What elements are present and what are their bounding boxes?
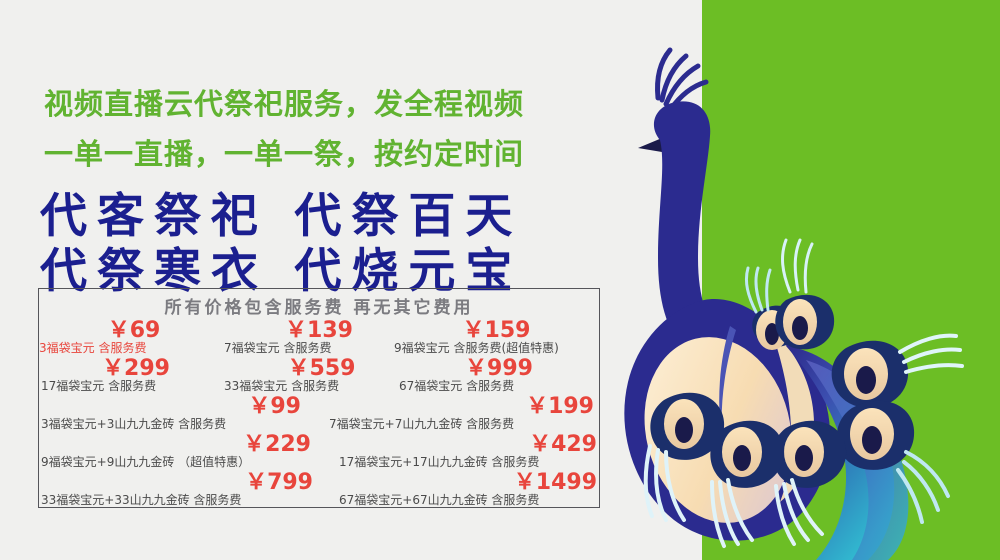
price-table: 所有价格包含服务费 再无其它费用 ￥693福袋宝元 含服务费￥1397福袋宝元 … bbox=[38, 288, 600, 508]
price-description: 17福袋宝元 含服务费 bbox=[41, 379, 231, 394]
price-amount: ￥99 bbox=[41, 397, 301, 417]
price-amount: ￥159 bbox=[394, 321, 599, 341]
price-item[interactable]: ￥1997福袋宝元+7山九九金砖 含服务费 bbox=[329, 397, 594, 432]
price-description: 3福袋宝元 含服务费 bbox=[39, 341, 229, 356]
price-amount: ￥199 bbox=[329, 397, 594, 417]
price-item[interactable]: ￥1599福袋宝元 含服务费(超值特惠) bbox=[394, 321, 599, 356]
price-description: 67福袋宝元 含服务费 bbox=[399, 379, 599, 394]
price-description: 7福袋宝元+7山九九金砖 含服务费 bbox=[329, 417, 594, 432]
price-amount: ￥229 bbox=[41, 435, 311, 455]
price-rows-container: ￥693福袋宝元 含服务费￥1397福袋宝元 含服务费￥1599福袋宝元 含服务… bbox=[39, 318, 599, 508]
price-item[interactable]: ￥99967福袋宝元 含服务费 bbox=[399, 359, 599, 394]
peacock-beak-icon bbox=[638, 138, 662, 152]
price-item[interactable]: ￥79933福袋宝元+33山九九金砖 含服务费 bbox=[41, 473, 313, 508]
price-row: ￥693福袋宝元 含服务费￥1397福袋宝元 含服务费￥1599福袋宝元 含服务… bbox=[39, 318, 599, 356]
price-table-header: 所有价格包含服务费 再无其它费用 bbox=[39, 293, 599, 318]
price-row: ￥993福袋宝元+3山九九金砖 含服务费￥1997福袋宝元+7山九九金砖 含服务… bbox=[39, 394, 599, 432]
price-item[interactable]: ￥2299福袋宝元+9山九九金砖 （超值特惠） bbox=[41, 435, 311, 470]
price-description: 17福袋宝元+17山九九金砖 含服务费 bbox=[339, 455, 597, 470]
price-item[interactable]: ￥29917福袋宝元 含服务费 bbox=[41, 359, 231, 394]
price-item[interactable]: ￥149967福袋宝元+67山九九金砖 含服务费 bbox=[339, 473, 597, 508]
price-amount: ￥1499 bbox=[339, 473, 597, 493]
price-item[interactable]: ￥42917福袋宝元+17山九九金砖 含服务费 bbox=[339, 435, 597, 470]
price-row: ￥2299福袋宝元+9山九九金砖 （超值特惠）￥42917福袋宝元+17山九九金… bbox=[39, 432, 599, 470]
price-description: 9福袋宝元 含服务费(超值特惠) bbox=[394, 341, 599, 356]
price-row: ￥79933福袋宝元+33山九九金砖 含服务费￥149967福袋宝元+67山九九… bbox=[39, 470, 599, 508]
price-amount: ￥299 bbox=[41, 359, 231, 379]
price-amount: ￥999 bbox=[399, 359, 599, 379]
price-row: ￥29917福袋宝元 含服务费￥55933福袋宝元 含服务费￥99967福袋宝元… bbox=[39, 356, 599, 394]
price-item[interactable]: ￥693福袋宝元 含服务费 bbox=[39, 321, 229, 356]
price-description: 33福袋宝元+33山九九金砖 含服务费 bbox=[41, 493, 313, 508]
price-amount: ￥69 bbox=[39, 321, 229, 341]
price-description: 3福袋宝元+3山九九金砖 含服务费 bbox=[41, 417, 301, 432]
price-item[interactable]: ￥1397福袋宝元 含服务费 bbox=[224, 321, 414, 356]
price-amount: ￥799 bbox=[41, 473, 313, 493]
headline-line-1: 视频直播云代祭祀服务，发全程视频 bbox=[44, 81, 524, 123]
price-amount: ￥139 bbox=[224, 321, 414, 341]
price-description: 67福袋宝元+67山九九金砖 含服务费 bbox=[339, 493, 597, 508]
price-description: 33福袋宝元 含服务费 bbox=[224, 379, 419, 394]
price-amount: ￥559 bbox=[224, 359, 419, 379]
green-background-panel bbox=[702, 0, 1000, 560]
promo-banner: 视频直播云代祭祀服务，发全程视频 一单一直播，一单一祭，按约定时间 代客祭祀 代… bbox=[0, 0, 1000, 560]
price-item[interactable]: ￥55933福袋宝元 含服务费 bbox=[224, 359, 419, 394]
price-amount: ￥429 bbox=[339, 435, 597, 455]
price-item[interactable]: ￥993福袋宝元+3山九九金砖 含服务费 bbox=[41, 397, 301, 432]
headline-line-2: 一单一直播，一单一祭，按约定时间 bbox=[44, 131, 524, 173]
price-description: 9福袋宝元+9山九九金砖 （超值特惠） bbox=[41, 455, 311, 470]
price-description: 7福袋宝元 含服务费 bbox=[224, 341, 414, 356]
peacock-crest-icon bbox=[658, 50, 707, 110]
